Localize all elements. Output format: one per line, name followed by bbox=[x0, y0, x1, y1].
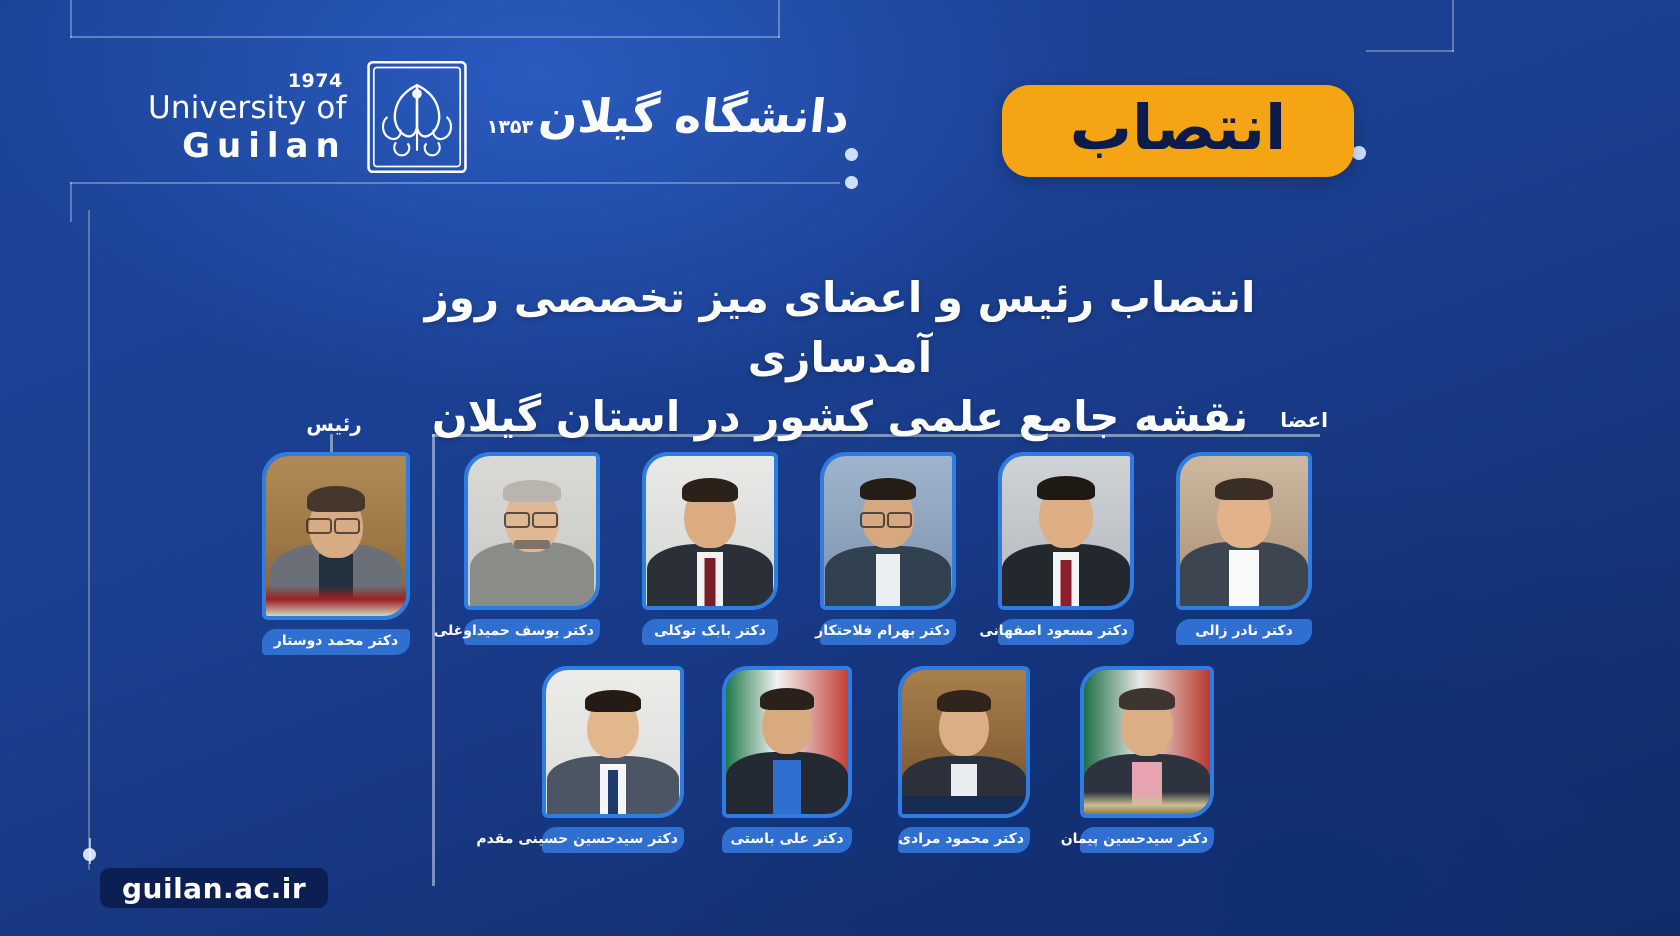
logo-year-persian: ۱۳۵۳ bbox=[487, 116, 533, 138]
person-card-member-4: دکتر مسعود اصفهانی bbox=[998, 452, 1134, 645]
person-name-caption: دکتر نادر زالی bbox=[1176, 619, 1312, 645]
person-card-member-6: دکتر سیدحسین حسینی مقدم bbox=[542, 666, 684, 853]
person-photo-frame bbox=[722, 666, 852, 818]
person-card-member-3: دکتر بهرام فلاحتکار bbox=[820, 452, 956, 645]
person-photo-frame bbox=[820, 452, 956, 610]
decor-line-mid-horizontal bbox=[70, 182, 840, 184]
person-card-member-9: دکتر سیدحسین پیمان bbox=[1080, 666, 1214, 853]
guilan-university-emblem-icon bbox=[363, 58, 471, 176]
person-card-member-2: دکتر بابک توکلی bbox=[642, 452, 778, 645]
section-label-chair: رئیس bbox=[246, 412, 422, 436]
decor-line-right-horizontal bbox=[1366, 50, 1454, 52]
decor-dot-icon bbox=[845, 176, 858, 189]
appointment-badge: انتصاب bbox=[1002, 85, 1354, 177]
person-photo-frame bbox=[642, 452, 778, 610]
person-photo-frame bbox=[898, 666, 1030, 818]
portrait-photo-icon bbox=[1180, 456, 1308, 606]
person-name-caption: دکتر محمد دوستار bbox=[262, 629, 410, 655]
person-name-caption: دکتر بابک توکلی bbox=[642, 619, 778, 645]
connector-chair bbox=[330, 434, 333, 452]
connector-members-vertical bbox=[432, 434, 435, 886]
person-photo-frame bbox=[464, 452, 600, 610]
person-card-member-5: دکتر نادر زالی bbox=[1176, 452, 1312, 645]
portrait-photo-icon bbox=[546, 670, 680, 814]
website-badge[interactable]: guilan.ac.ir bbox=[100, 868, 328, 908]
section-label-members: اعضا bbox=[1232, 408, 1328, 432]
person-card-chair: دکتر محمد دوستار bbox=[262, 452, 410, 655]
person-photo-frame bbox=[542, 666, 684, 818]
headline-line-2: نقشه جامع علمی کشور در استان گیلان bbox=[360, 387, 1320, 447]
person-photo-frame bbox=[998, 452, 1134, 610]
person-name-caption: دکتر سیدحسین حسینی مقدم bbox=[542, 827, 684, 853]
person-name-caption: دکتر محمود مرادی bbox=[898, 827, 1030, 853]
decor-line-top-vertical bbox=[778, 0, 780, 38]
logo-english-line2: Guilan bbox=[182, 129, 347, 163]
logo-english-block: 1974 University of Guilan bbox=[148, 72, 347, 163]
portrait-photo-icon bbox=[902, 670, 1026, 814]
headline-line-1: انتصاب رئیس و اعضای میز تخصصی روز آمدساز… bbox=[425, 273, 1256, 382]
website-url: guilan.ac.ir bbox=[122, 872, 306, 905]
logo-persian-name: دانشگاه گیلان bbox=[536, 88, 852, 146]
logo-year-gregorian: 1974 bbox=[288, 72, 343, 91]
portrait-photo-icon bbox=[266, 456, 406, 616]
person-photo-frame bbox=[1176, 452, 1312, 610]
person-photo-frame bbox=[262, 452, 410, 620]
decor-line-left-rail bbox=[88, 210, 90, 870]
person-name-caption: دکتر بهرام فلاحتکار bbox=[820, 619, 956, 645]
person-card-member-7: دکتر علی باستی bbox=[722, 666, 852, 853]
person-name-caption: دکتر مسعود اصفهانی bbox=[998, 619, 1134, 645]
portrait-photo-icon bbox=[726, 670, 848, 814]
portrait-photo-icon bbox=[468, 456, 596, 606]
logo-english-line1: University of bbox=[148, 93, 347, 124]
person-name-caption: دکتر سیدحسین پیمان bbox=[1080, 827, 1214, 853]
person-name-caption: دکتر یوسف حمیداوغلی bbox=[464, 619, 600, 645]
decor-line-right-vertical bbox=[1452, 0, 1454, 52]
decor-line-mid-vertical bbox=[70, 182, 72, 222]
person-photo-frame bbox=[1080, 666, 1214, 818]
portrait-photo-icon bbox=[646, 456, 774, 606]
logo-persian-block: ۱۳۵۳ دانشگاه گیلان bbox=[487, 88, 850, 146]
person-name-caption: دکتر علی باستی bbox=[722, 827, 852, 853]
poster-canvas: 1974 University of Guilan ۱۳۵۳ دانشگاه گ… bbox=[0, 0, 1680, 936]
person-card-member-1: دکتر یوسف حمیداوغلی bbox=[464, 452, 600, 645]
portrait-photo-icon bbox=[1084, 670, 1210, 814]
decor-line-top-left bbox=[70, 0, 72, 38]
decor-dot-icon bbox=[1352, 146, 1366, 160]
appointment-badge-label: انتصاب bbox=[1070, 97, 1287, 165]
portrait-photo-icon bbox=[1002, 456, 1130, 606]
page-title: انتصاب رئیس و اعضای میز تخصصی روز آمدساز… bbox=[360, 268, 1320, 447]
footer-connector bbox=[89, 838, 91, 864]
person-card-member-8: دکتر محمود مرادی bbox=[898, 666, 1030, 853]
decor-line-top-horizontal bbox=[70, 36, 780, 38]
university-logo: 1974 University of Guilan ۱۳۵۳ دانشگاه گ… bbox=[148, 58, 849, 176]
portrait-photo-icon bbox=[824, 456, 952, 606]
